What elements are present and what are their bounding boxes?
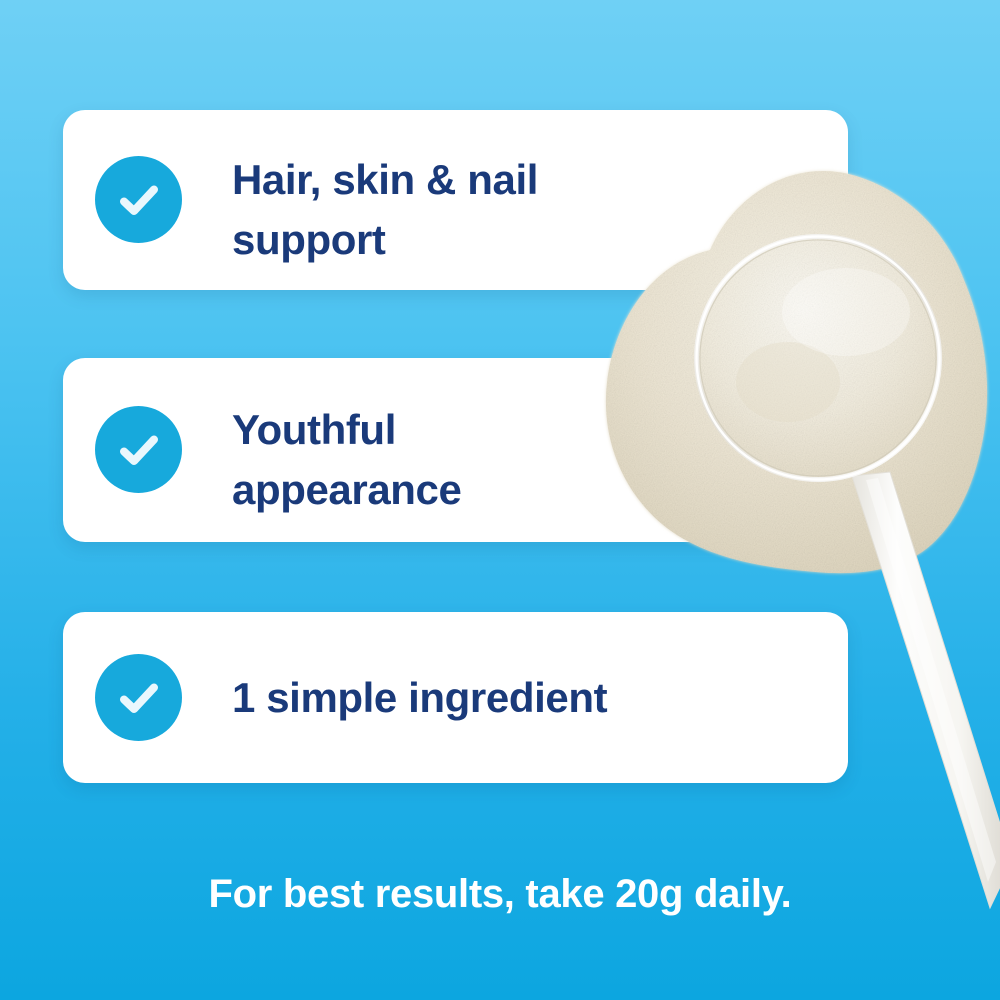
benefit-card-label: Hair, skin & nail support [232, 150, 824, 269]
benefit-card-youthful-appearance: Youthful appearance [63, 358, 848, 542]
footer-dosage-note: For best results, take 20g daily. [0, 872, 1000, 917]
promo-graphic: Hair, skin & nail support Youthful appea… [0, 0, 1000, 1000]
check-icon [95, 654, 182, 741]
check-icon [95, 156, 182, 243]
benefit-card-hair-skin-nail: Hair, skin & nail support [63, 110, 848, 290]
benefit-line: 1 simple ingredient [232, 668, 824, 728]
benefit-line: Hair, skin & nail [232, 150, 824, 210]
check-icon [95, 406, 182, 493]
benefit-line: support [232, 210, 824, 270]
benefit-card-label: Youthful appearance [232, 400, 824, 519]
benefit-card-one-ingredient: 1 simple ingredient [63, 612, 848, 783]
benefit-line: Youthful [232, 400, 824, 460]
benefit-card-label: 1 simple ingredient [232, 668, 824, 728]
benefit-line: appearance [232, 460, 824, 520]
